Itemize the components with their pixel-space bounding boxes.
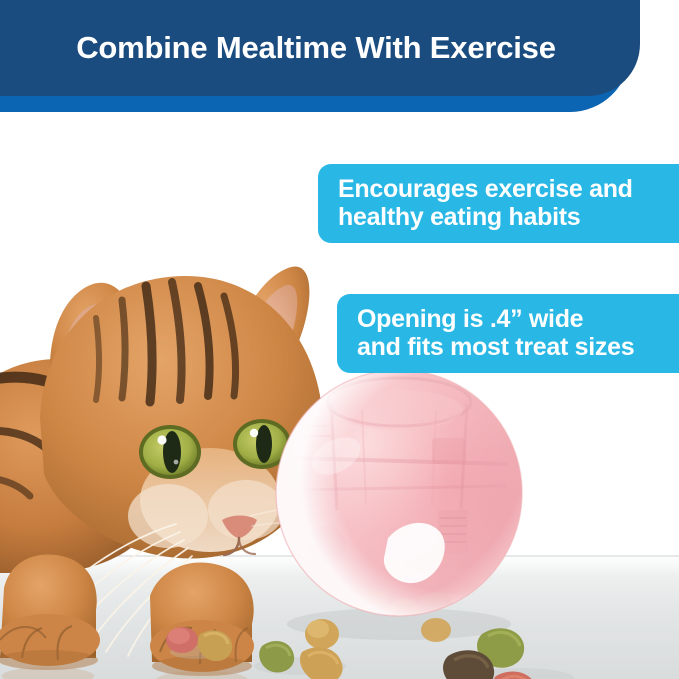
- header-banner: Combine Mealtime With Exercise: [0, 0, 640, 96]
- benefit-exercise-line2: healthy eating habits: [338, 203, 679, 231]
- page-title: Combine Mealtime With Exercise: [76, 30, 564, 66]
- benefit-opening-size-line2: and fits most treat sizes: [357, 333, 679, 361]
- treat-near-ball: [421, 618, 451, 642]
- benefit-opening-size-callout: Opening is .4” wide and fits most treat …: [337, 294, 679, 373]
- cat-paw-left: [0, 614, 100, 670]
- product-feature-image: Combine Mealtime With Exercise Encourage…: [0, 0, 679, 679]
- benefit-exercise-callout: Encourages exercise and healthy eating h…: [318, 164, 679, 243]
- benefit-exercise-line1: Encourages exercise and: [338, 175, 679, 203]
- benefit-opening-size-line1: Opening is .4” wide: [357, 305, 679, 333]
- cat-eye-left: [139, 425, 201, 479]
- treat-pink-left: [166, 627, 198, 653]
